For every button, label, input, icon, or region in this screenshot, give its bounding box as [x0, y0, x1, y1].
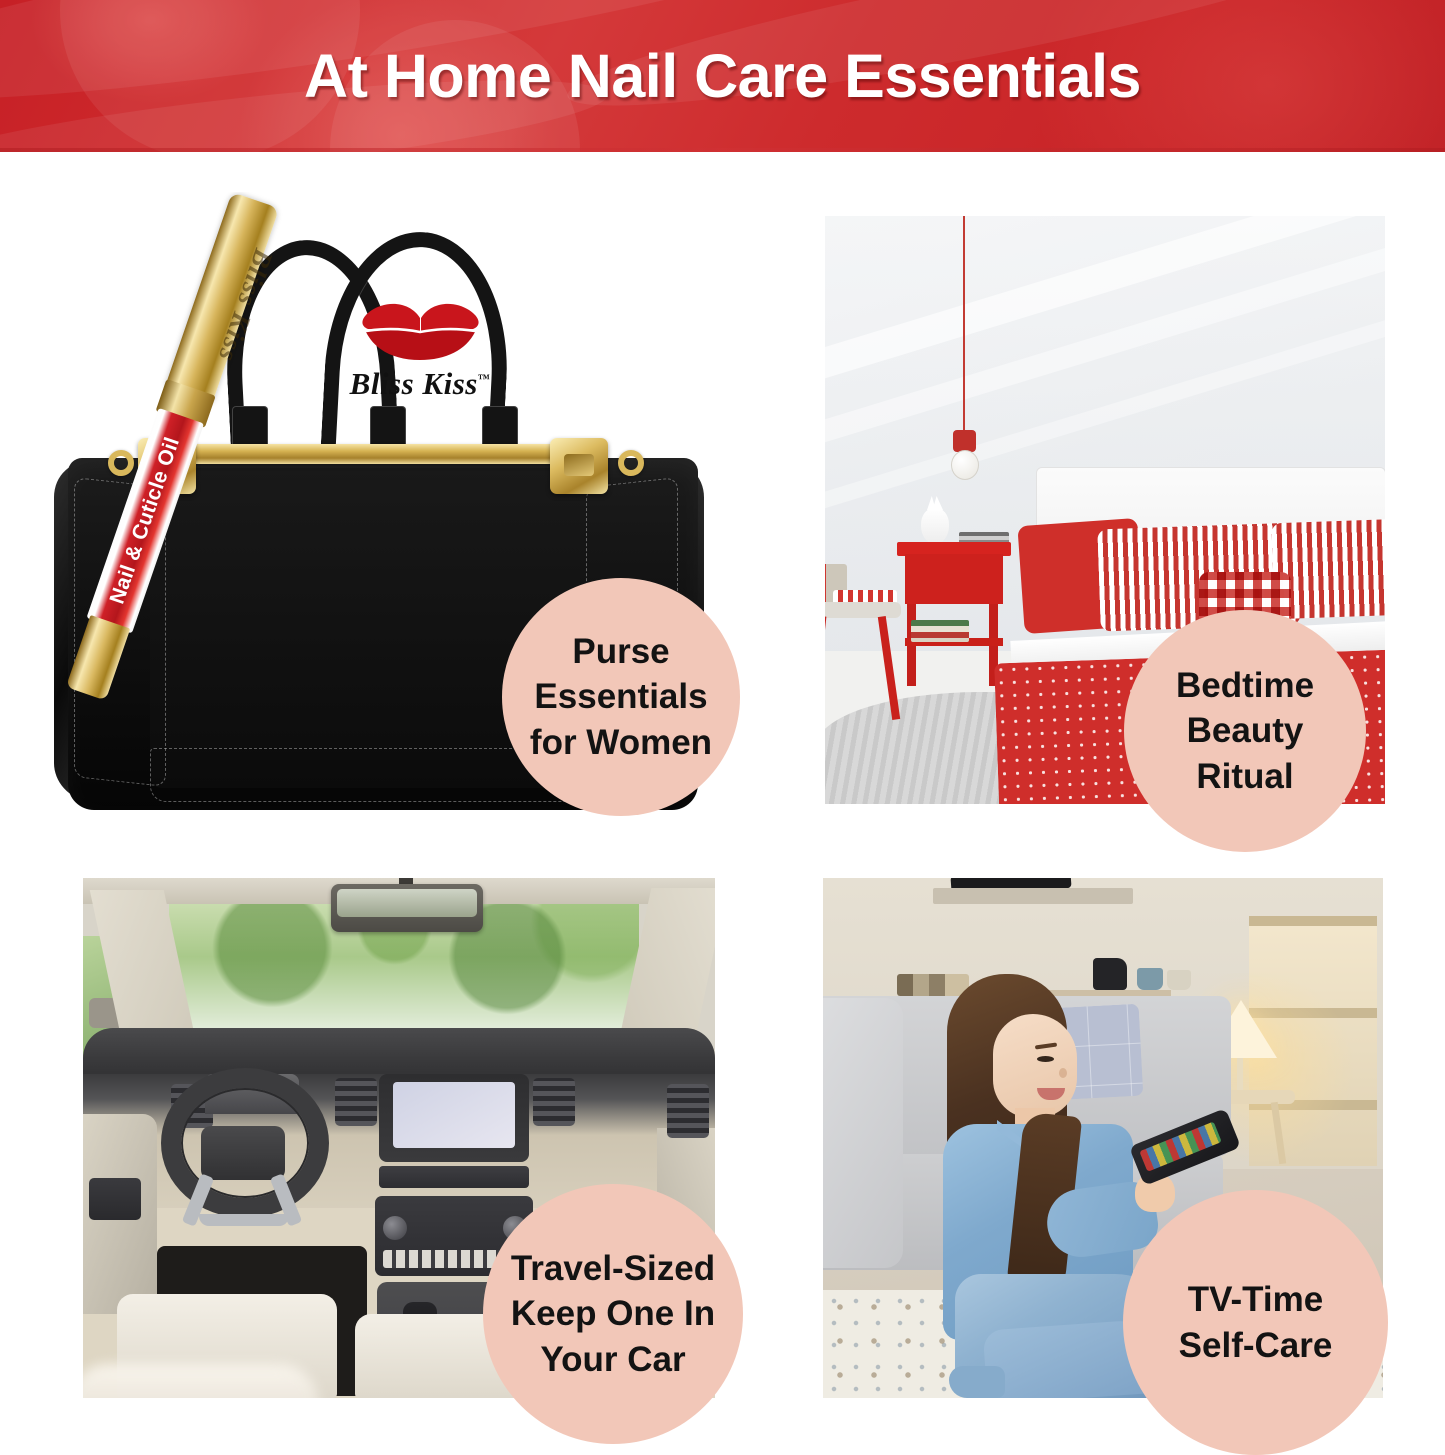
rearview-mirror	[331, 884, 483, 932]
nightstand-drawer	[905, 554, 1003, 604]
steering-spoke	[199, 1214, 289, 1226]
seat-foreground	[83, 1364, 319, 1398]
steering-wheel-hub	[201, 1126, 285, 1180]
trademark-symbol: ™	[478, 372, 491, 386]
shelf-books	[911, 620, 969, 642]
tile-car: Travel-Sized Keep One In Your Car	[83, 878, 715, 1398]
caption-line: Self-Care	[1179, 1323, 1333, 1369]
pendant-bulb	[951, 450, 979, 480]
nose	[1059, 1068, 1067, 1078]
stool-leg	[878, 616, 900, 720]
tile-bedroom: Bedtime Beauty Ritual	[825, 216, 1385, 804]
caption-line: Travel-Sized	[511, 1246, 715, 1292]
caption-bedroom: Bedtime Beauty Ritual	[1124, 610, 1366, 852]
table-lamp-stem	[1237, 1058, 1243, 1092]
purse-gold-ring	[618, 450, 644, 476]
caption-purse: Purse Essentials for Women	[502, 578, 740, 816]
deer-vase	[921, 508, 949, 544]
stool-top	[825, 602, 901, 618]
caption-line: Ritual	[1196, 754, 1293, 800]
purse-stitching	[150, 748, 580, 802]
face	[993, 1014, 1077, 1118]
caption-line: for Women	[530, 720, 712, 766]
caption-car: Travel-Sized Keep One In Your Car	[483, 1184, 743, 1444]
pendant-socket	[953, 430, 976, 452]
eye	[1037, 1056, 1054, 1062]
side-stool	[825, 602, 901, 720]
purse-clasp	[550, 438, 608, 494]
air-vent	[533, 1078, 575, 1126]
air-vent	[335, 1078, 377, 1126]
media-control-strip	[379, 1166, 529, 1188]
climate-knob	[383, 1216, 407, 1240]
sofa-arm	[823, 998, 903, 1268]
caption-line: Keep One In	[511, 1291, 715, 1337]
caption-line: TV-Time	[1188, 1277, 1324, 1323]
brand-logo-text: Bliss Kiss™	[330, 366, 510, 402]
foot	[949, 1366, 1005, 1398]
tile-tv: TV-Time Self-Care	[823, 878, 1383, 1398]
window-switch-panel	[89, 1178, 141, 1220]
brand-name: Bliss Kiss	[350, 366, 478, 401]
caption-line: Bedtime	[1176, 663, 1314, 709]
page-title: At Home Nail Care Essentials	[0, 0, 1445, 152]
caption-line: Purse	[572, 629, 669, 675]
red-nightstand	[903, 542, 1005, 686]
tile-purse: Bliss Kiss™ Bliss Kiss	[30, 192, 745, 882]
caption-line: Essentials	[534, 674, 707, 720]
lips-icon	[358, 300, 483, 362]
header-banner: At Home Nail Care Essentials	[0, 0, 1445, 152]
purse-gold-frame	[156, 444, 586, 464]
shelf-bar	[1249, 916, 1377, 926]
brand-logo: Bliss Kiss™	[330, 300, 510, 420]
tile-grid: Bliss Kiss™ Bliss Kiss	[0, 152, 1445, 1445]
pendant-cord	[963, 216, 965, 434]
caption-tv: TV-Time Self-Care	[1123, 1190, 1388, 1455]
stool-leg	[825, 616, 826, 720]
caption-line: Beauty	[1187, 708, 1304, 754]
caption-line: Your Car	[540, 1337, 685, 1383]
air-vent	[667, 1084, 709, 1138]
infotainment-screen	[393, 1082, 515, 1148]
wall-shelf	[933, 888, 1133, 904]
